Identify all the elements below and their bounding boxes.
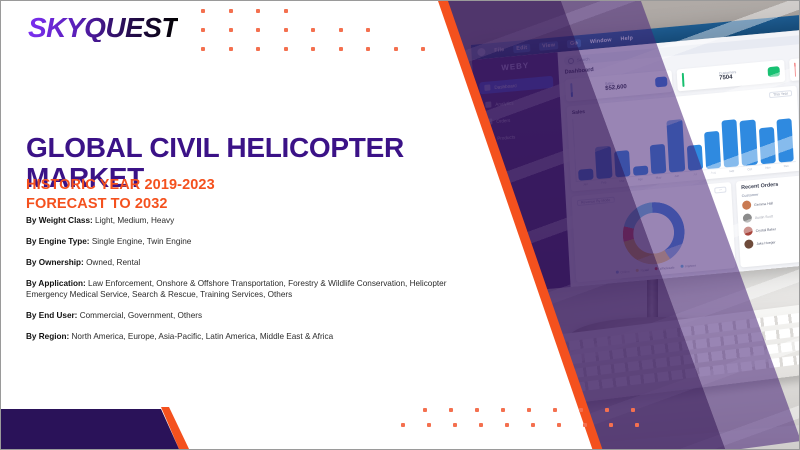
segmentation-value: Single Engine, Twin Engine: [92, 237, 192, 246]
forecast-line: FORECAST TO 2032: [26, 195, 406, 214]
segmentation-item: By End User: Commercial, Government, Oth…: [26, 311, 481, 322]
segmentation-value: Commercial, Government, Others: [80, 311, 202, 320]
segmentation-value: Law Enforcement, Onshore & Offshore Tran…: [26, 279, 446, 299]
segmentation-value: Light, Medium, Heavy: [95, 216, 174, 225]
segmentation-label: By Region:: [26, 332, 72, 341]
dot-row: [201, 47, 425, 51]
segmentation-item: By Engine Type: Single Engine, Twin Engi…: [26, 237, 481, 248]
dot-row: [401, 423, 639, 427]
skyquest-logo[interactable]: SKYQUEST: [28, 14, 178, 42]
segmentation-label: By Application:: [26, 279, 88, 288]
segmentation-label: By End User:: [26, 311, 80, 320]
segmentation-item: By Ownership: Owned, Rental: [26, 258, 481, 269]
segmentation-label: By Engine Type:: [26, 237, 92, 246]
segmentation-item: By Weight Class: Light, Medium, Heavy: [26, 216, 481, 227]
hero-subtitle: HISTORIC YEAR 2019-2023 FORECAST TO 2032: [26, 176, 406, 213]
historic-year-line: HISTORIC YEAR 2019-2023: [26, 176, 406, 195]
dot-pattern-bottom: [401, 397, 639, 427]
segmentation-list: By Weight Class: Light, Medium, HeavyBy …: [26, 216, 481, 353]
segmentation-item: By Region: North America, Europe, Asia-P…: [26, 332, 481, 343]
segmentation-label: By Ownership:: [26, 258, 86, 267]
segmentation-value: Owned, Rental: [86, 258, 140, 267]
segmentation-item: By Application: Law Enforcement, Onshore…: [26, 279, 481, 300]
segmentation-label: By Weight Class:: [26, 216, 95, 225]
dot-pattern-top: [201, 9, 425, 66]
poster-canvas: File Edit View Go Window Help ▾ 100% WEB…: [0, 0, 800, 450]
dot-row: [201, 28, 425, 32]
dot-row: [423, 408, 639, 412]
segmentation-value: North America, Europe, Asia-Pacific, Lat…: [72, 332, 334, 341]
dot-row: [201, 9, 425, 13]
